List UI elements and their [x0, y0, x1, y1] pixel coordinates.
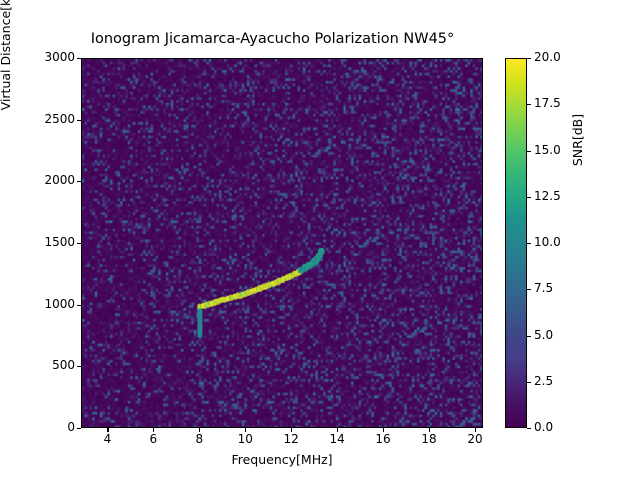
colorbar	[505, 58, 527, 428]
x-tick-label: 20	[455, 432, 495, 446]
y-tick-mark	[77, 366, 81, 367]
colorbar-tick-mark	[527, 104, 531, 105]
y-tick-label: 2000	[29, 173, 75, 187]
x-tick-label: 18	[409, 432, 449, 446]
colorbar-tick-label: 12.5	[534, 189, 561, 203]
y-axis-label: Virtual Distance[km]	[0, 0, 13, 146]
y-tick-mark	[77, 181, 81, 182]
colorbar-tick-mark	[527, 243, 531, 244]
x-tick-label: 16	[363, 432, 403, 446]
x-tick-label: 6	[133, 432, 173, 446]
colorbar-tick-mark	[527, 289, 531, 290]
x-axis-label: Frequency[MHz]	[81, 452, 483, 467]
y-tick-label: 1500	[29, 235, 75, 249]
y-tick-label: 0	[29, 420, 75, 434]
y-tick-mark	[77, 58, 81, 59]
y-tick-mark	[77, 243, 81, 244]
colorbar-tick-label: 15.0	[534, 143, 561, 157]
x-tick-label: 4	[87, 432, 127, 446]
y-tick-mark	[77, 305, 81, 306]
colorbar-tick-mark	[527, 151, 531, 152]
colorbar-tick-label: 2.5	[534, 374, 553, 388]
chart-title-line-1: Ionogram Jicamarca-Ayacucho Polarization…	[0, 31, 545, 48]
colorbar-tick-label: 10.0	[534, 235, 561, 249]
colorbar-label: SNR[dB]	[570, 80, 585, 200]
y-tick-label: 1000	[29, 297, 75, 311]
colorbar-tick-mark	[527, 336, 531, 337]
y-tick-label: 2500	[29, 112, 75, 126]
colorbar-tick-label: 0.0	[534, 420, 553, 434]
figure: Ionogram Jicamarca-Ayacucho Polarization…	[0, 0, 640, 480]
x-tick-label: 10	[225, 432, 265, 446]
y-tick-mark	[77, 428, 81, 429]
y-tick-label: 500	[29, 358, 75, 372]
colorbar-tick-label: 5.0	[534, 328, 553, 342]
colorbar-tick-mark	[527, 428, 531, 429]
x-tick-label: 14	[317, 432, 357, 446]
colorbar-tick-mark	[527, 382, 531, 383]
x-tick-label: 8	[179, 432, 219, 446]
colorbar-tick-label: 20.0	[534, 50, 561, 64]
colorbar-tick-label: 17.5	[534, 96, 561, 110]
colorbar-tick-mark	[527, 58, 531, 59]
x-tick-label: 12	[271, 432, 311, 446]
y-tick-mark	[77, 120, 81, 121]
colorbar-tick-mark	[527, 197, 531, 198]
ionogram-plot-area	[81, 58, 483, 428]
colorbar-tick-label: 7.5	[534, 281, 553, 295]
echo-trace-layer	[82, 59, 482, 427]
y-tick-label: 3000	[29, 50, 75, 64]
